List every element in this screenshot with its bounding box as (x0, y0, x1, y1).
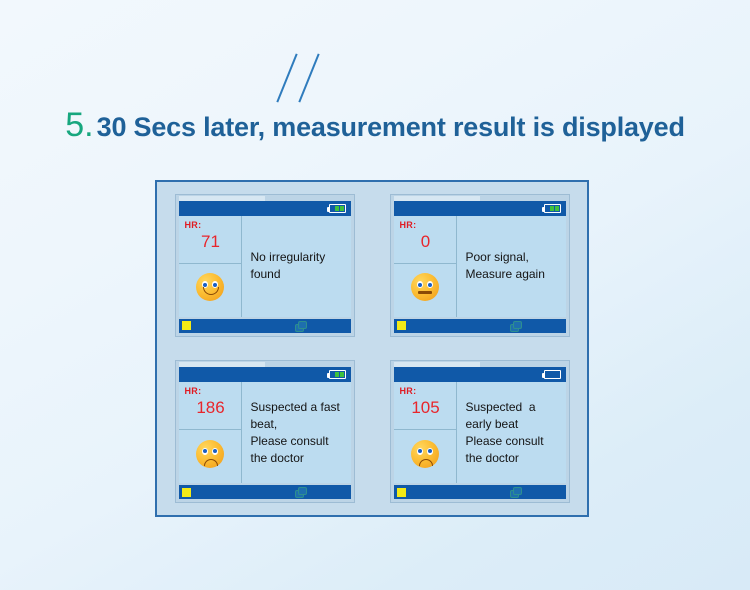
battery-full-icon (544, 204, 561, 213)
mouth-flat-icon (418, 291, 432, 293)
mouth-frown-icon (204, 459, 218, 466)
devices-grid: HR: 71 No irregularity found (157, 182, 587, 515)
status-bar (394, 367, 566, 382)
mouth-frown-icon (419, 459, 433, 466)
menu-icon-shape-b (513, 321, 522, 329)
status-bar (179, 201, 351, 216)
decorative-slashes (276, 52, 346, 104)
eye-right-icon (427, 281, 433, 288)
device-screen-content: HR: 105 Suspected a early beat Plea (394, 382, 566, 483)
page-title: 5.30 Secs later, measurement result is d… (0, 106, 750, 145)
battery-cell (550, 206, 554, 211)
menu-icon-shape-b (298, 321, 307, 329)
sad-face (196, 440, 224, 468)
message-line: the doctor (251, 450, 345, 467)
hr-value: 71 (185, 231, 241, 253)
heart-rate-box: HR: 0 (394, 216, 456, 264)
battery-full-icon (329, 204, 346, 213)
menu-icon[interactable] (295, 321, 306, 331)
device-screen-2: HR: 0 Poor signal, Measure again (390, 194, 570, 337)
heart-rate-box: HR: 186 (179, 382, 241, 430)
mouth-smile-icon (203, 287, 219, 295)
battery-cell (335, 206, 339, 211)
eye-left-icon (417, 448, 423, 455)
menu-icon[interactable] (295, 487, 306, 497)
soft-key-bar (179, 319, 351, 333)
message-line: beat, (251, 416, 345, 433)
message-line: No irregularity (251, 249, 345, 266)
status-face-box (179, 264, 241, 317)
eye-right-icon (427, 448, 433, 455)
slash-line-2 (298, 54, 319, 103)
yellow-square-icon[interactable] (182, 488, 191, 497)
menu-icon-shape-b (513, 487, 522, 495)
menu-icon[interactable] (510, 487, 521, 497)
reading-column: HR: 71 (179, 216, 242, 317)
heart-rate-box: HR: 105 (394, 382, 456, 430)
eye-right-icon (212, 448, 218, 455)
battery-cell (340, 206, 344, 211)
result-message: Suspected a fast beat, Please consult th… (242, 382, 351, 483)
device-screen-content: HR: 0 Poor signal, Measure again (394, 216, 566, 317)
message-line: Please consult (251, 433, 345, 450)
smile-face (196, 273, 224, 301)
hr-value: 0 (400, 231, 456, 253)
hr-label: HR: (185, 220, 241, 231)
yellow-square-icon[interactable] (397, 321, 406, 330)
message-line: the doctor (466, 450, 560, 467)
message-line: Poor signal, (466, 249, 560, 266)
device-screen-4: HR: 105 Suspected a early beat Plea (390, 360, 570, 503)
status-face-box (394, 430, 456, 483)
neutral-face (411, 273, 439, 301)
status-bar (394, 201, 566, 216)
status-bar (179, 367, 351, 382)
hr-value: 105 (400, 397, 456, 419)
device-screen-3: HR: 186 Suspected a fast beat, Pleas (175, 360, 355, 503)
eye-left-icon (417, 281, 423, 288)
eye-left-icon (202, 448, 208, 455)
step-title-text: 30 Secs later, measurement result is dis… (97, 112, 685, 142)
reading-column: HR: 186 (179, 382, 242, 483)
hr-label: HR: (400, 386, 456, 397)
device-screen-content: HR: 71 No irregularity found (179, 216, 351, 317)
soft-key-bar (394, 485, 566, 499)
battery-cell (555, 206, 559, 211)
battery-cell (340, 372, 344, 377)
status-face-box (179, 430, 241, 483)
heart-rate-box: HR: 71 (179, 216, 241, 264)
message-line: Please consult (466, 433, 560, 450)
battery-full-icon (329, 370, 346, 379)
status-face-box (394, 264, 456, 317)
message-line: Suspected a (466, 399, 560, 416)
slash-line-1 (276, 54, 297, 103)
message-line: found (251, 266, 345, 283)
sad-face (411, 440, 439, 468)
yellow-square-icon[interactable] (397, 488, 406, 497)
result-message: Suspected a early beat Please consult th… (457, 382, 566, 483)
message-line: Measure again (466, 266, 560, 283)
device-screen-content: HR: 186 Suspected a fast beat, Pleas (179, 382, 351, 483)
battery-cell (335, 372, 339, 377)
device-screen-1: HR: 71 No irregularity found (175, 194, 355, 337)
hr-label: HR: (185, 386, 241, 397)
result-message: No irregularity found (242, 216, 351, 317)
menu-icon[interactable] (510, 321, 521, 331)
hr-label: HR: (400, 220, 456, 231)
message-line: Suspected a fast (251, 399, 345, 416)
yellow-square-icon[interactable] (182, 321, 191, 330)
battery-empty-icon (544, 370, 561, 379)
menu-icon-shape-b (298, 487, 307, 495)
devices-panel: HR: 71 No irregularity found (155, 180, 589, 517)
step-number: 5. (65, 106, 93, 144)
soft-key-bar (179, 485, 351, 499)
hr-value: 186 (185, 397, 241, 419)
result-message: Poor signal, Measure again (457, 216, 566, 317)
message-line: early beat (466, 416, 560, 433)
soft-key-bar (394, 319, 566, 333)
reading-column: HR: 0 (394, 216, 457, 317)
reading-column: HR: 105 (394, 382, 457, 483)
